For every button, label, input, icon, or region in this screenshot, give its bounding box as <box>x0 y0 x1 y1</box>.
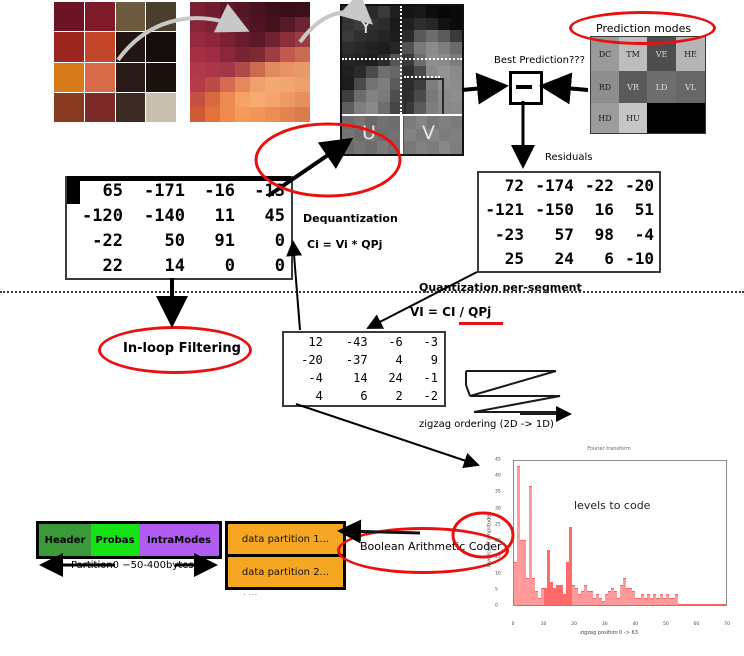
zigzag-scan-glyph <box>466 371 566 412</box>
chart-y-tick: 20 <box>495 539 501 544</box>
chart-x-label: zigzag position 0 -> 63 <box>485 630 733 636</box>
chart-y-tick: 45 <box>495 458 501 463</box>
matrix-top-bar <box>67 176 291 181</box>
chart-x-tick: 10 <box>541 622 547 627</box>
u-plane-label: U <box>362 122 376 144</box>
partition0-size-label: Partition0 −50-400bytes <box>71 560 194 571</box>
levels-histogram-chart: Fourier transform level/coeff amplitude … <box>485 446 733 636</box>
chart-y-tick: 10 <box>495 571 501 576</box>
source-image-mosaic <box>54 2 176 122</box>
chart-x-tick: 30 <box>602 622 608 627</box>
photo-tile <box>146 63 176 92</box>
table-row: -41424-1 <box>284 369 444 387</box>
photo-tile <box>116 32 146 61</box>
zigzag-ordering-label: zigzag ordering (2D -> 1D) <box>419 419 554 430</box>
photo-tile <box>54 93 84 122</box>
prediction-modes-grid: DC TM VE HE RD VR LD VL HD HU <box>590 36 706 134</box>
data-partition-1: data partition 1... <box>225 521 346 557</box>
best-prediction-label: Best Prediction??? <box>494 55 585 66</box>
dequantized-coefficients-matrix: 65-171-16-13 -120-1401145 -2250910 22140… <box>65 176 293 280</box>
photo-tile <box>85 63 115 92</box>
chart-bars <box>514 461 726 605</box>
y-plane-label: Y <box>360 16 372 38</box>
pred-mode-cell: VR <box>619 71 647 103</box>
pred-mode-cell: HD <box>591 103 619 133</box>
table-row: 72-174-22-20 <box>479 173 659 198</box>
table-row: -235798-4 <box>479 222 659 247</box>
photo-tile <box>116 63 146 92</box>
pred-mode-empty-cell <box>647 103 705 133</box>
pred-mode-cell: VL <box>676 71 705 103</box>
photo-tile <box>54 32 84 61</box>
data-partitions-ellipsis: . ... <box>243 588 257 598</box>
quantization-formula: VI = CI / QPj <box>410 305 491 319</box>
chart-annotation: levels to code <box>574 499 650 512</box>
chart-x-tick: 50 <box>663 622 669 627</box>
table-row: -20-3749 <box>284 351 444 369</box>
pred-mode-cell: HU <box>619 103 647 133</box>
bitstream-block-header: Header <box>39 524 91 556</box>
chart-x-tick: 0 <box>512 622 515 627</box>
arrow-predmodes-to-subtract <box>543 86 588 90</box>
subtraction-node <box>509 71 543 105</box>
chart-y-tick: 40 <box>495 474 501 479</box>
quantized-levels-matrix: 12-43-6-3 -20-3749 -41424-1 462-2 <box>282 331 446 407</box>
table-row: 221400 <box>67 253 291 278</box>
chart-y-label: level/coeff amplitude <box>486 515 492 568</box>
table-row: 25246-10 <box>479 247 659 272</box>
encode-decode-separator <box>0 291 744 293</box>
photo-tile <box>54 63 84 92</box>
zoomed-macroblock <box>190 2 310 122</box>
chart-x-tick: 70 <box>724 622 730 627</box>
arrow-quantized-to-chart <box>296 404 478 465</box>
chart-x-tick: 40 <box>632 622 638 627</box>
residuals-label: Residuals <box>545 152 592 163</box>
chart-y-tick: 35 <box>495 490 501 495</box>
pred-mode-cell: LD <box>647 71 676 103</box>
y-plane-divider-vertical <box>400 6 402 114</box>
prediction-modes-highlight-ellipse <box>569 11 716 45</box>
data-partition-2: data partition 2... <box>225 554 346 590</box>
photo-tile <box>85 32 115 61</box>
photo-tile <box>85 93 115 122</box>
dc-coefficient-marker <box>67 178 80 204</box>
chart-bar <box>723 604 726 605</box>
bitstream-block-intramodes: IntraModes <box>139 524 219 556</box>
table-row: 65-171-16-13 <box>67 178 291 203</box>
table-row: -121-1501651 <box>479 198 659 223</box>
photo-tile <box>85 2 115 31</box>
table-row: -2250910 <box>67 228 291 253</box>
chart-title: Fourier transform <box>485 446 733 452</box>
residuals-matrix: 72-174-22-20 -121-1501651 -235798-4 2524… <box>477 171 661 273</box>
bitstream-block-probas: Probas <box>91 524 139 556</box>
table-row: 12-43-6-3 <box>284 333 444 351</box>
table-row: 462-2 <box>284 387 444 405</box>
inloop-filtering-ellipse <box>98 326 252 374</box>
chart-y-tick: 5 <box>495 587 498 592</box>
v-plane-label: V <box>422 122 435 144</box>
yuv-planes-panel: Y U V <box>340 4 464 156</box>
chart-y-tick: 15 <box>495 555 501 560</box>
chart-y-tick: 30 <box>495 506 501 511</box>
dequantization-formula: Ci = Vi * QPj <box>307 238 382 251</box>
pred-mode-cell: RD <box>591 71 619 103</box>
selected-subblock <box>404 78 444 116</box>
uv-divider <box>400 114 403 154</box>
y-plane-divider-horizontal <box>342 58 462 60</box>
chart-x-tick: 60 <box>694 622 700 627</box>
qpj-underline <box>459 322 503 325</box>
chart-y-tick: 25 <box>495 522 501 527</box>
arrow-block-to-subtract <box>462 86 505 90</box>
photo-tile <box>116 2 146 31</box>
photo-tile <box>54 2 84 31</box>
chart-y-tick: 0 <box>495 604 498 609</box>
photo-tile <box>146 93 176 122</box>
photo-tile <box>146 2 176 31</box>
dequantization-label: Dequantization <box>303 212 398 225</box>
arrow-quantized-to-dequantized <box>293 242 300 330</box>
photo-tile <box>146 32 176 61</box>
partition0-bitstream: Header Probas IntraModes <box>36 521 222 559</box>
chart-plot-area: levels to code <box>513 460 727 606</box>
table-row: -120-1401145 <box>67 203 291 228</box>
chart-x-tick: 20 <box>571 622 577 627</box>
boolean-coder-ellipse <box>337 527 509 574</box>
photo-tile <box>116 93 146 122</box>
